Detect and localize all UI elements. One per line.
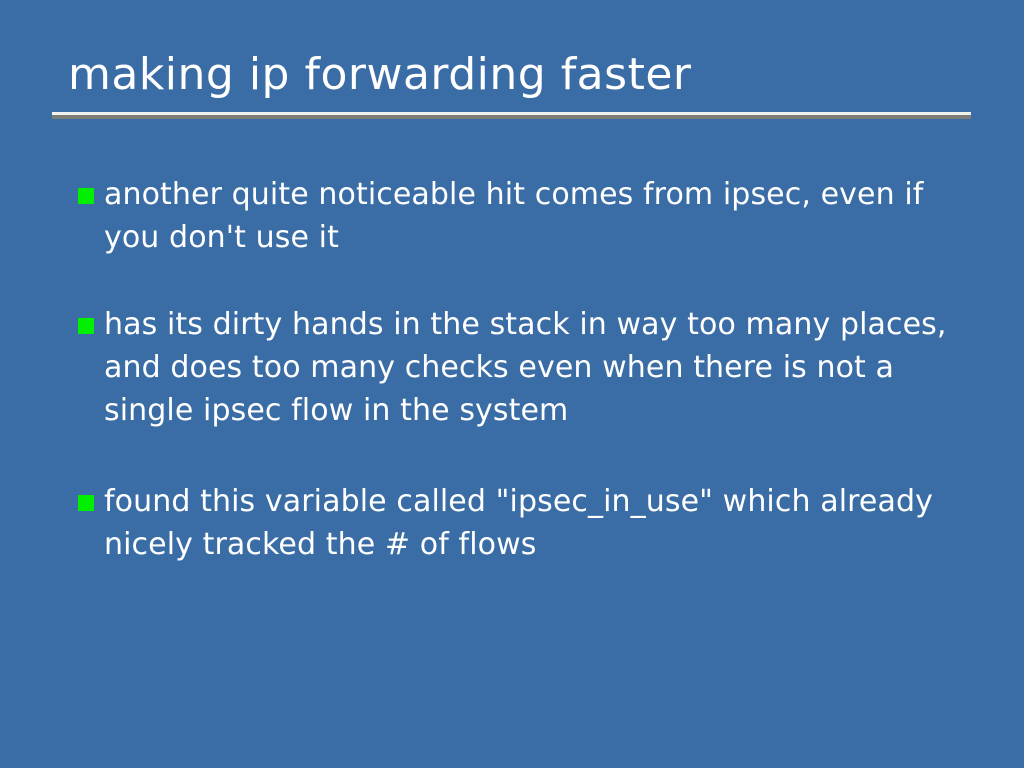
page-title: making ip forwarding faster [52,48,972,102]
bullet-list: another quite noticeable hit comes from … [78,173,958,566]
square-bullet-icon [78,318,94,334]
presentation-slide: making ip forwarding faster another quit… [0,0,1024,768]
list-item-text: found this variable called "ipsec_in_use… [104,484,933,562]
title-underline-rule [52,112,971,119]
square-bullet-icon [78,188,94,204]
list-item: found this variable called "ipsec_in_use… [78,480,958,566]
square-bullet-icon [78,495,94,511]
list-item: another quite noticeable hit comes from … [78,173,958,259]
list-item: has its dirty hands in the stack in way … [78,303,958,432]
title-block: making ip forwarding faster [52,48,972,102]
list-item-text: has its dirty hands in the stack in way … [104,307,947,428]
title-rule-shadow [52,115,971,119]
list-item-text: another quite noticeable hit comes from … [104,177,923,255]
